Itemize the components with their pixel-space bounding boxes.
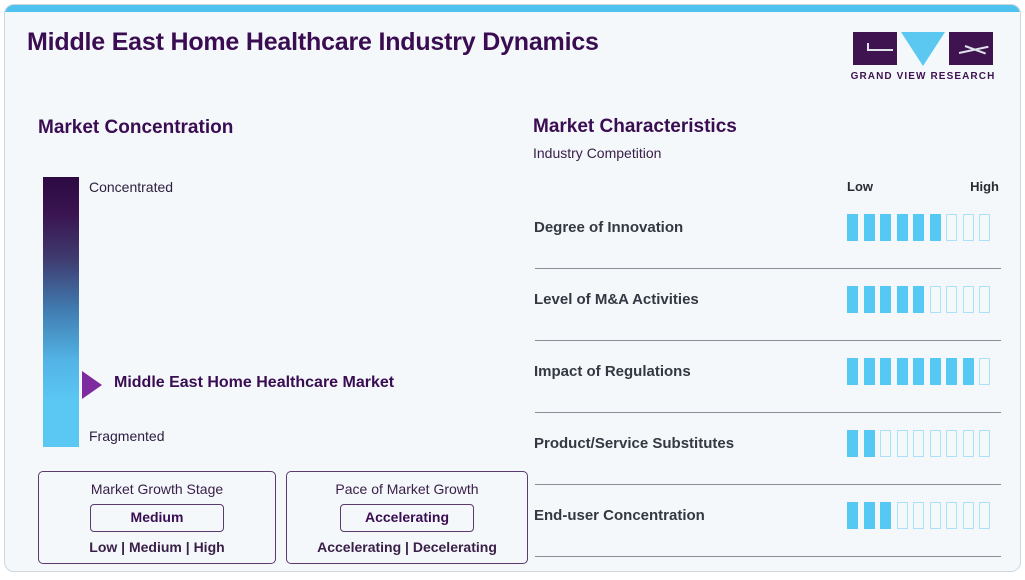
rating-bar-filled — [880, 214, 891, 241]
characteristic-row: Level of M&A Activities — [517, 269, 1021, 341]
rating-bar-empty — [979, 286, 990, 313]
rating-bar-filled — [880, 502, 891, 529]
rating-bar-empty — [913, 430, 924, 457]
scale-bottom-label: Fragmented — [89, 428, 164, 444]
page-title: Middle East Home Healthcare Industry Dyn… — [27, 28, 599, 57]
rating-bar-empty — [930, 502, 941, 529]
characteristic-label: Level of M&A Activities — [534, 291, 699, 308]
characteristic-label: Impact of Regulations — [534, 363, 691, 380]
rating-bar-filled — [897, 286, 908, 313]
rating-bar-filled — [963, 358, 974, 385]
stat-box-market-growth-stage: Market Growth Stage Medium Low | Medium … — [38, 471, 276, 564]
header: Middle East Home Healthcare Industry Dyn… — [5, 12, 1020, 85]
rating-bar-empty — [913, 502, 924, 529]
rating-bar-empty — [897, 430, 908, 457]
rating-bars — [847, 430, 990, 457]
characteristic-rows: Degree of InnovationLevel of M&A Activit… — [517, 197, 1021, 557]
stat-title: Market Growth Stage — [53, 481, 261, 497]
stat-box-pace-of-market-growth: Pace of Market Growth Accelerating Accel… — [286, 471, 528, 564]
characteristic-label: Degree of Innovation — [534, 219, 683, 236]
rating-bars — [847, 214, 990, 241]
rating-bar-filled — [864, 430, 875, 457]
rating-bars — [847, 502, 990, 529]
stat-scale: Low | Medium | High — [53, 539, 261, 555]
rating-bar-empty — [979, 358, 990, 385]
rating-bar-empty — [946, 286, 957, 313]
logo-text: GRAND VIEW RESEARCH — [848, 71, 998, 82]
market-concentration-title: Market Concentration — [38, 117, 233, 139]
scale-top-label: Concentrated — [89, 179, 173, 195]
rating-bar-filled — [880, 358, 891, 385]
market-characteristics-panel: Market Characteristics Industry Competit… — [517, 85, 1021, 572]
rating-bar-filled — [864, 358, 875, 385]
rating-bar-empty — [897, 502, 908, 529]
rating-bar-filled — [847, 502, 858, 529]
market-characteristics-subtitle: Industry Competition — [533, 145, 661, 161]
rating-bar-empty — [963, 214, 974, 241]
characteristic-label: End-user Concentration — [534, 507, 705, 524]
characteristic-row: Impact of Regulations — [517, 341, 1021, 413]
rating-bar-empty — [963, 286, 974, 313]
rating-bars — [847, 358, 990, 385]
stat-value-box: Accelerating — [340, 504, 474, 532]
triangle-pointer-icon — [82, 371, 102, 399]
row-divider — [535, 556, 1001, 557]
scale-low-label: Low — [847, 179, 873, 194]
infographic-card: Middle East Home Healthcare Industry Dyn… — [4, 4, 1021, 572]
stat-value: Medium — [131, 509, 184, 525]
stat-value: Accelerating — [365, 509, 449, 525]
stat-scale: Accelerating | Decelerating — [301, 539, 513, 555]
logo-marks — [848, 32, 998, 66]
rating-bar-empty — [930, 286, 941, 313]
rating-bar-filled — [880, 286, 891, 313]
rating-bar-empty — [880, 430, 891, 457]
rating-bar-empty — [930, 430, 941, 457]
rating-bar-empty — [979, 214, 990, 241]
logo-triangle-icon — [901, 32, 945, 66]
characteristic-row: Degree of Innovation — [517, 197, 1021, 269]
rating-bar-filled — [897, 358, 908, 385]
rating-bar-empty — [979, 502, 990, 529]
market-position-label: Middle East Home Healthcare Market — [114, 374, 394, 392]
rating-bar-filled — [864, 214, 875, 241]
rating-bar-empty — [979, 430, 990, 457]
rating-bar-filled — [864, 286, 875, 313]
rating-bar-filled — [913, 286, 924, 313]
rating-bar-filled — [847, 430, 858, 457]
rating-bar-filled — [930, 358, 941, 385]
rating-bar-empty — [946, 502, 957, 529]
logo-square-right-icon — [949, 32, 993, 65]
top-accent-bar — [5, 5, 1020, 12]
concentration-gradient-scale — [43, 177, 79, 447]
rating-bar-filled — [847, 358, 858, 385]
rating-bar-filled — [946, 358, 957, 385]
characteristic-row: Product/Service Substitutes — [517, 413, 1021, 485]
rating-bar-filled — [847, 286, 858, 313]
stat-value-box: Medium — [90, 504, 224, 532]
rating-bars — [847, 286, 990, 313]
market-concentration-panel: Market Concentration Concentrated Fragme… — [5, 85, 517, 572]
rating-bar-filled — [897, 214, 908, 241]
rating-bar-filled — [930, 214, 941, 241]
scale-header: Low High — [847, 179, 999, 194]
rating-bar-empty — [963, 502, 974, 529]
logo-square-left-icon — [853, 32, 897, 65]
rating-bar-filled — [864, 502, 875, 529]
characteristic-label: Product/Service Substitutes — [534, 435, 734, 452]
rating-bar-filled — [913, 214, 924, 241]
stat-title: Pace of Market Growth — [301, 481, 513, 497]
characteristic-row: End-user Concentration — [517, 485, 1021, 557]
stat-boxes: Market Growth Stage Medium Low | Medium … — [38, 471, 528, 564]
rating-bar-empty — [946, 214, 957, 241]
rating-bar-empty — [946, 430, 957, 457]
rating-bar-filled — [847, 214, 858, 241]
logo: GRAND VIEW RESEARCH — [848, 32, 998, 82]
market-characteristics-title: Market Characteristics — [533, 116, 737, 138]
rating-bar-empty — [963, 430, 974, 457]
scale-high-label: High — [970, 179, 999, 194]
rating-bar-filled — [913, 358, 924, 385]
